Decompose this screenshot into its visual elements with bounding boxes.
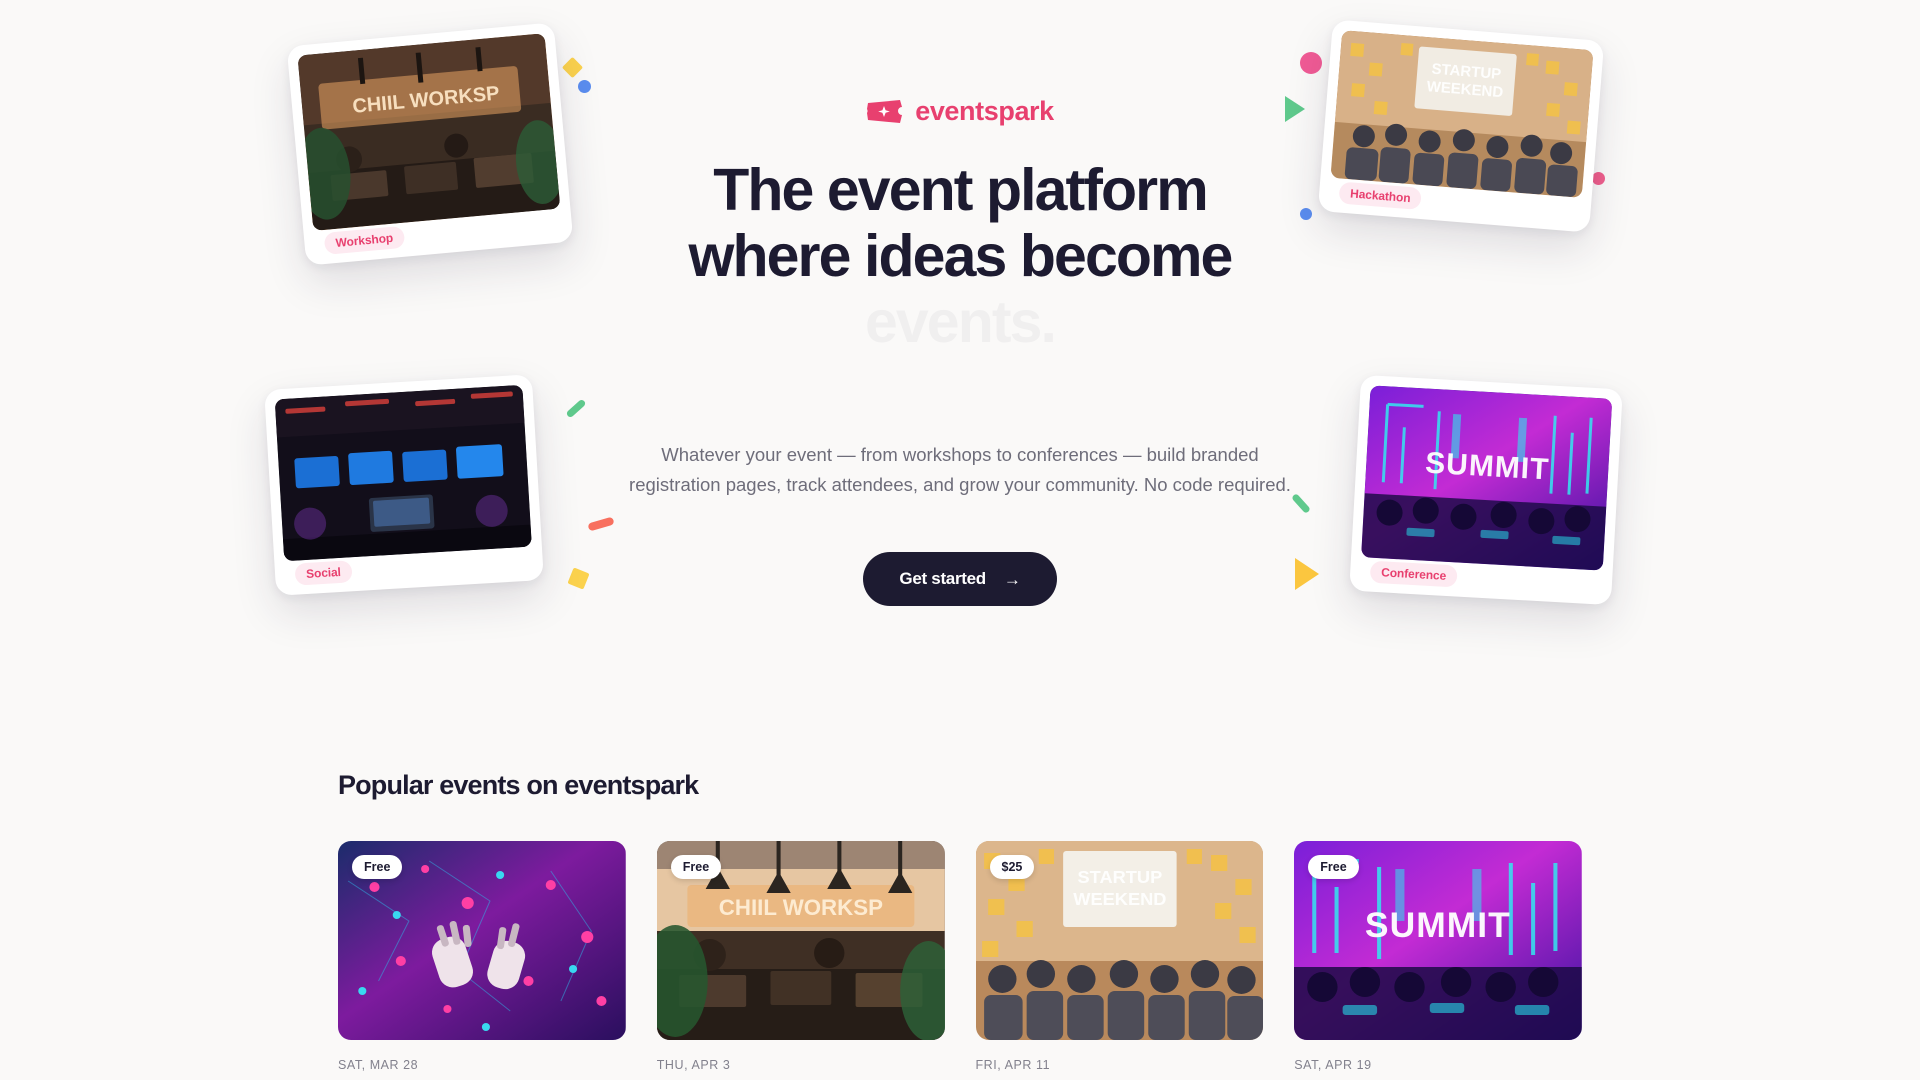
section-title: Popular events on eventspark [338,770,1582,801]
headline-line-2: where ideas become [600,223,1320,289]
headline-line-3: events. [600,289,1320,355]
get-started-label: Get started [899,569,985,589]
event-thumbnail: SUMMIT Free [1294,841,1582,1040]
floating-card-badge: Hackathon [1338,181,1422,210]
event-date: FRI, APR 11 [976,1058,1264,1072]
magenta-dot-icon [1300,52,1322,74]
events-grid: Free SAT, MAR 28 AI hackathon CHIIL WORK… [338,841,1582,1080]
floating-card-workshop[interactable]: CHIIL WORKSP Workshop [287,22,574,265]
event-card[interactable]: SUMMIT Free SAT, APR 19 Vibe coding summ… [1294,841,1582,1080]
svg-text:SUMMIT: SUMMIT [1365,906,1511,945]
floating-card-hackathon[interactable]: STARTUP WEEKEND Hackathon [1318,19,1605,232]
floating-card-badge: Workshop [324,226,405,255]
popular-events-section: Popular events on eventspark [338,770,1582,1080]
floating-card-conference[interactable]: SUMMIT Conference [1349,375,1623,605]
event-date: SAT, MAR 28 [338,1058,626,1072]
blue-dot-icon [578,80,591,93]
pink-dot-2-icon [1592,172,1605,185]
floating-card-photo: STARTUP WEEKEND [1330,30,1593,198]
floating-card-photo [275,385,532,561]
event-price-badge: $25 [990,855,1035,879]
yellow-square-icon [567,567,589,589]
hero-section: CHIIL WORKSP Workshop [0,0,1920,700]
floating-card-badge: Conference [1370,561,1458,588]
event-thumbnail: STARTUP WEEKEND $25 [976,841,1264,1040]
green-check-icon [565,399,586,419]
floating-card-social[interactable]: Social [264,374,544,596]
event-card[interactable]: Free SAT, MAR 28 AI hackathon [338,841,626,1080]
event-thumbnail: Free [338,841,626,1040]
event-price-badge: Free [671,855,721,879]
svg-text:CHIIL WORKSP: CHIIL WORKSP [719,895,883,920]
hero-content: eventspark The event platform where idea… [600,96,1320,606]
yellow-diamond-icon [562,57,583,78]
event-price-badge: Free [352,855,402,879]
brand-logo[interactable]: eventspark [600,96,1320,127]
svg-text:STARTUP: STARTUP [1077,867,1162,887]
event-date: THU, APR 3 [657,1058,945,1072]
svg-text:SUMMIT: SUMMIT [1424,447,1550,487]
svg-text:WEEKEND: WEEKEND [1073,889,1166,909]
get-started-button[interactable]: Get started → [863,552,1056,606]
brand-name: eventspark [915,96,1054,127]
page-title: The event platform where ideas become ev… [600,157,1320,355]
floating-card-photo: SUMMIT [1361,385,1612,570]
event-price-badge: Free [1308,855,1358,879]
event-date: SAT, APR 19 [1294,1058,1582,1072]
event-card[interactable]: STARTUP WEEKEND $25 [976,841,1264,1080]
arrow-right-icon: → [1004,571,1021,588]
ticket-sparkle-icon [866,98,904,125]
event-thumbnail: CHIIL WORKSP Free [657,841,945,1040]
hero-subtitle: Whatever your event — from workshops to … [600,440,1320,500]
event-card[interactable]: CHIIL WORKSP Free [657,841,945,1080]
floating-card-photo: CHIIL WORKSP [297,33,560,231]
headline-line-1: The event platform [600,157,1320,223]
floating-card-badge: Social [294,560,352,585]
